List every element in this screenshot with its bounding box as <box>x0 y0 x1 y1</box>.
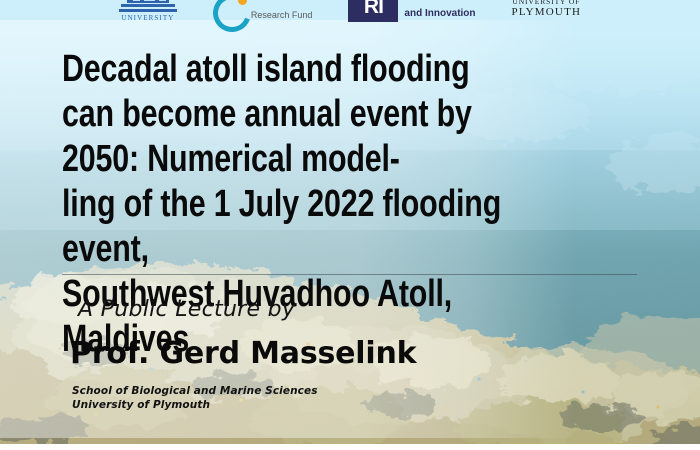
lecture-poster: UNIVERSITY Research Fund RI and Innovati… <box>0 0 700 450</box>
affiliation-line-1: School of Biological and Marine Sciences <box>72 385 318 399</box>
speaker-name: Prof. Gerd Masselink <box>70 336 416 371</box>
poster-content: Decadal atoll island flooding can become… <box>0 0 700 450</box>
event-type-byline: A Public Lecture by <box>78 297 295 322</box>
section-divider <box>62 274 637 275</box>
speaker-affiliation: School of Biological and Marine Sciences… <box>72 385 318 412</box>
affiliation-line-2: University of Plymouth <box>72 399 318 413</box>
